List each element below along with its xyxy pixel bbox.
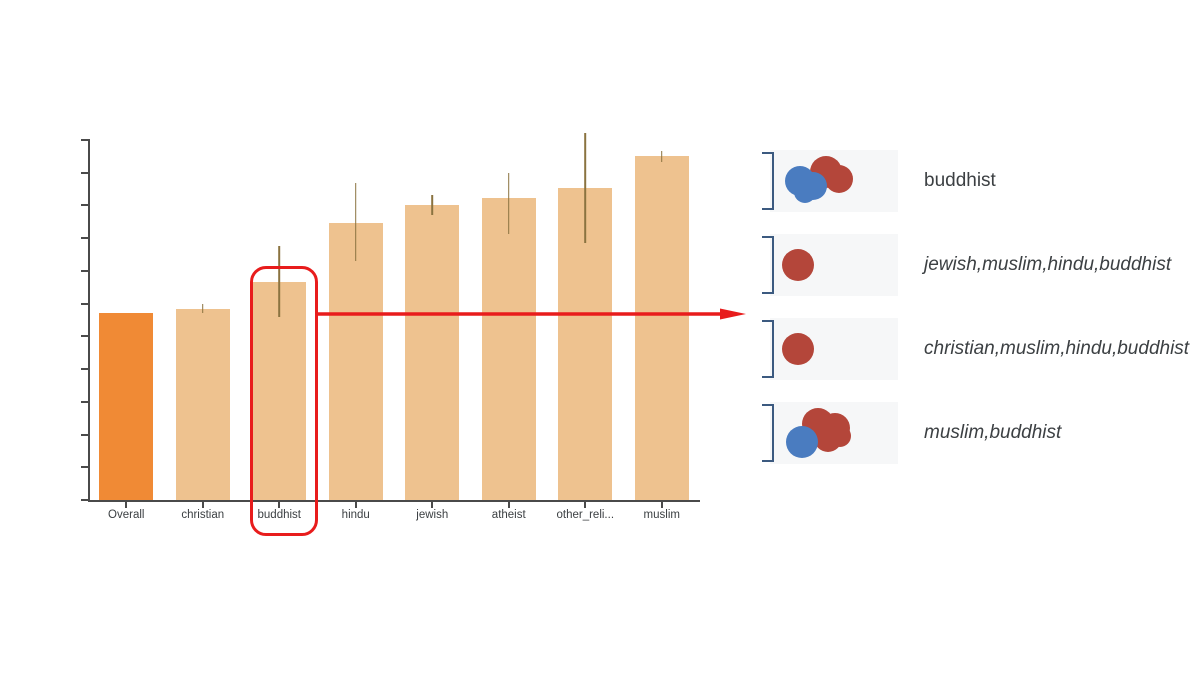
x-axis-line (88, 500, 700, 502)
bar-jewish (405, 205, 459, 500)
legend-label: buddhist (924, 170, 996, 192)
error-bar (355, 183, 357, 261)
bar-hindu (329, 223, 383, 500)
y-tick-mark (81, 270, 88, 272)
y-axis-line (88, 139, 90, 501)
buddhist-highlight-box (250, 266, 318, 536)
error-bar (508, 173, 510, 234)
x-tick-label: atheist (492, 509, 526, 521)
legend-row[interactable]: jewish,muslim,hindu,buddhist (770, 234, 1200, 296)
bracket-icon (762, 152, 774, 210)
y-tick-mark (81, 401, 88, 403)
x-tick-label: jewish (416, 509, 448, 521)
bar-muslim (635, 156, 689, 500)
legend-row[interactable]: christian,muslim,hindu,buddhist (770, 318, 1200, 380)
legend-thumbnail (770, 318, 898, 380)
legend-label: jewish,muslim,hindu,buddhist (924, 254, 1171, 276)
bar-overall (99, 313, 153, 500)
y-tick-mark (81, 499, 88, 501)
x-tick-mark (355, 501, 357, 508)
y-tick-mark (81, 335, 88, 337)
y-tick-mark (81, 237, 88, 239)
y-tick-mark (81, 204, 88, 206)
legend-label: muslim,buddhist (924, 422, 1061, 444)
error-bar (202, 304, 204, 313)
legend-row[interactable]: buddhist (770, 150, 1200, 212)
x-tick-mark (125, 501, 127, 508)
bracket-icon (762, 404, 774, 462)
x-tick-label: Overall (108, 509, 144, 521)
error-bar (584, 133, 586, 242)
x-tick-label: muslim (644, 509, 680, 521)
legend-row[interactable]: muslim,buddhist (770, 402, 1200, 464)
y-tick-mark (81, 303, 88, 305)
bar-chart-panel: 0.000.050.100.150.200.250.300.350.400.45… (0, 0, 760, 675)
legend-label: christian,muslim,hindu,buddhist (924, 338, 1189, 360)
y-tick-mark (81, 368, 88, 370)
x-tick-mark (661, 501, 663, 508)
x-tick-mark (202, 501, 204, 508)
bar-christian (176, 309, 230, 500)
y-tick-mark (81, 434, 88, 436)
x-tick-label: hindu (342, 509, 370, 521)
callout-arrow-icon (316, 308, 746, 320)
bracket-icon (762, 320, 774, 378)
error-bar (661, 151, 663, 161)
x-tick-label: christian (181, 509, 224, 521)
x-tick-mark (431, 501, 433, 508)
legend-panel: buddhistjewish,muslim,hindu,buddhistchri… (770, 150, 1200, 486)
x-tick-mark (584, 501, 586, 508)
bracket-icon (762, 236, 774, 294)
legend-thumbnail (770, 234, 898, 296)
x-tick-mark (508, 501, 510, 508)
y-tick-mark (81, 172, 88, 174)
y-tick-mark (81, 139, 88, 141)
bar-atheist (482, 198, 536, 500)
x-tick-label: other_reli... (556, 509, 614, 521)
legend-thumbnail (770, 402, 898, 464)
legend-thumbnail (770, 150, 898, 212)
error-bar (431, 195, 433, 215)
y-tick-mark (81, 466, 88, 468)
